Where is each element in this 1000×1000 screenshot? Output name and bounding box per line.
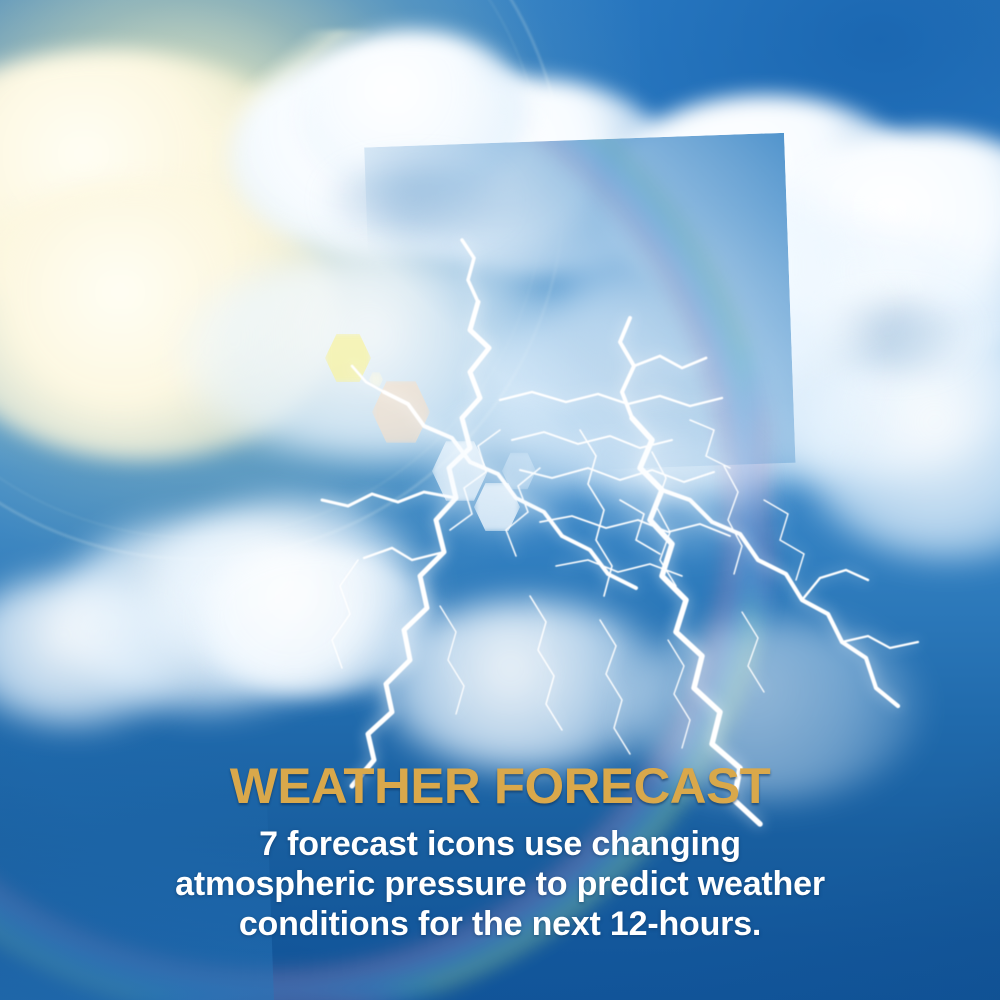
- subtitle-line-1: 7 forecast icons use changing: [110, 824, 890, 864]
- subtitle-line-2: atmospheric pressure to predict weather: [110, 864, 890, 904]
- weather-forecast-poster: WEATHER FORECAST 7 forecast icons use ch…: [0, 0, 1000, 1000]
- subtitle-line-3: conditions for the next 12-hours.: [110, 904, 890, 944]
- page-title: WEATHER FORECAST: [0, 760, 1000, 812]
- poster-text-block: WEATHER FORECAST 7 forecast icons use ch…: [0, 760, 1000, 944]
- poster-subtitle: 7 forecast icons use changing atmospheri…: [0, 824, 1000, 944]
